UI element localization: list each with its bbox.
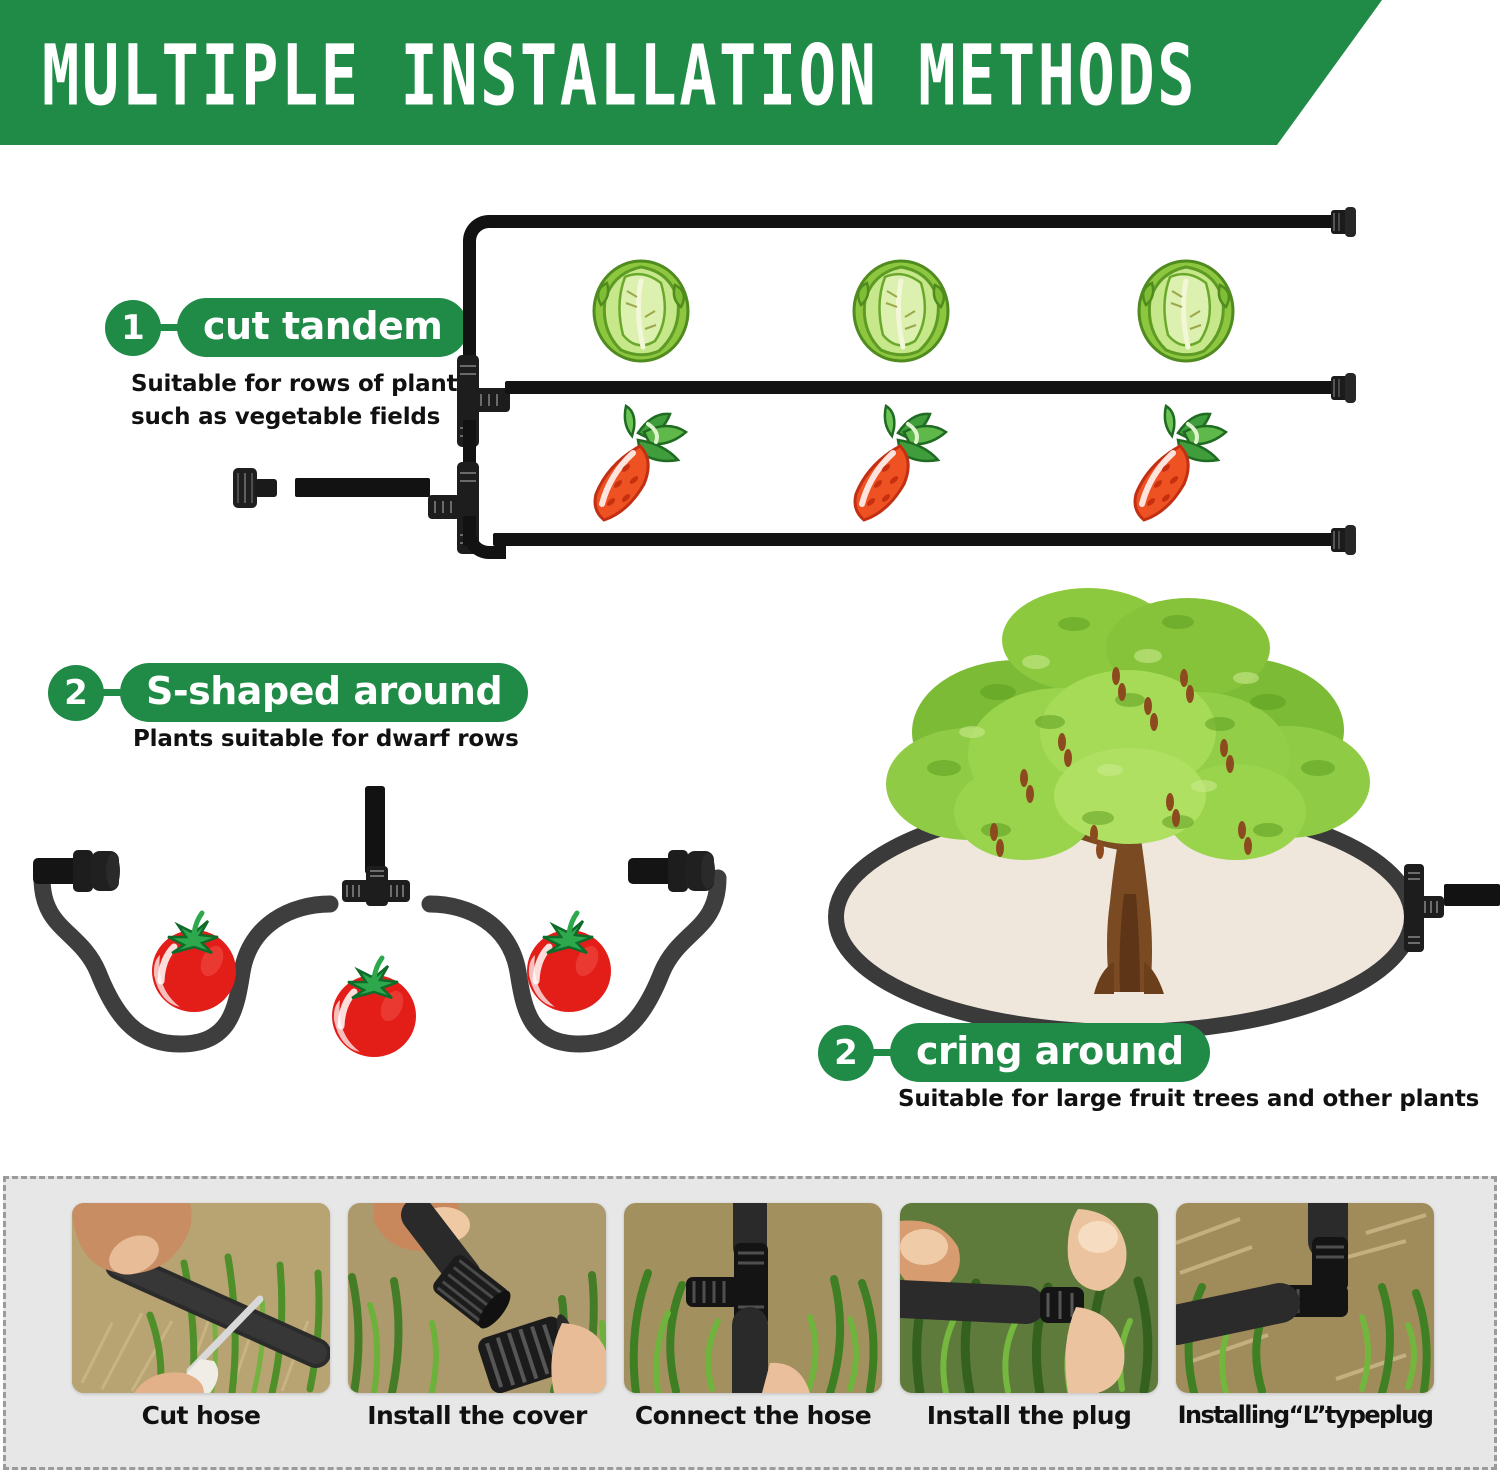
end-cap-right-s <box>628 848 718 892</box>
end-cap-row2 <box>1331 373 1357 403</box>
tomato-icon-2 <box>320 948 428 1063</box>
method-3-number: 2 <box>818 1025 874 1081</box>
method-2-subtitle: Plants suitable for dwarf rows <box>133 723 553 756</box>
cabbage-icon-2 <box>845 255 957 365</box>
tee-connector-ring <box>1392 864 1444 954</box>
tomato-icon-1 <box>140 903 248 1018</box>
tomato-icon-3 <box>515 903 623 1018</box>
step-photo-row <box>6 1203 1500 1393</box>
carrot-icon-3 <box>1118 398 1238 533</box>
method-3-subtitle: Suitable for large fruit trees and other… <box>898 1083 1498 1116</box>
carrot-icon-1 <box>578 398 698 533</box>
page-title: MULTIPLE INSTALLATION METHODS <box>42 26 1197 125</box>
step-photo-cut-hose[interactable] <box>72 1203 330 1393</box>
cabbage-icon-3 <box>1130 255 1242 365</box>
infographic-page: MULTIPLE INSTALLATION METHODS 1 cut tand… <box>0 0 1500 1473</box>
cabbage-icon-1 <box>585 255 697 365</box>
method-3-dash <box>872 1049 892 1056</box>
method-1-tag: 1 cut tandem <box>105 298 468 357</box>
method-1-dash <box>159 324 179 331</box>
fruit-tree <box>848 582 1408 1002</box>
installation-steps-panel: Cut hose Install the cover Connect the h… <box>3 1176 1497 1470</box>
step-caption-4: Install the plug <box>900 1401 1158 1447</box>
step-photo-connect-hose[interactable] <box>624 1203 882 1393</box>
header-banner: MULTIPLE INSTALLATION METHODS <box>0 0 1382 145</box>
pipe-row3-bottom <box>493 533 1333 546</box>
step-photo-install-plug[interactable] <box>900 1203 1158 1393</box>
step-caption-2: Install the cover <box>348 1401 606 1447</box>
pipe-ring-feed <box>1444 884 1500 906</box>
step-caption-3: Connect the hose <box>624 1401 882 1447</box>
end-cap-row3 <box>1331 525 1357 555</box>
method-2-title: S-shaped around <box>120 663 528 722</box>
faucet-adapter <box>233 468 279 508</box>
step-caption-5: Installing“L”typeplug <box>1176 1401 1434 1447</box>
method-1-number: 1 <box>105 300 161 356</box>
pipe-supply <box>295 478 430 497</box>
method-2-number: 2 <box>48 665 104 721</box>
method-3-tag: 2 cring around <box>818 1023 1210 1082</box>
pipe-row2-middle <box>505 381 1333 394</box>
end-cap-left-s <box>33 848 123 892</box>
carrot-icon-2 <box>838 398 958 533</box>
method-1-title: cut tandem <box>177 298 468 357</box>
step-photo-install-cover[interactable] <box>348 1203 606 1393</box>
method-3-title: cring around <box>890 1023 1210 1082</box>
step-caption-1: Cut hose <box>72 1401 330 1447</box>
end-cap-row1 <box>1331 207 1357 237</box>
pipe-row1-top <box>493 215 1333 228</box>
pipe-trunk-upper <box>463 245 476 363</box>
method-2-tag: 2 S-shaped around <box>48 663 528 722</box>
step-caption-row: Cut hose Install the cover Connect the h… <box>6 1401 1500 1447</box>
method-2-dash <box>102 689 122 696</box>
step-photo-l-type-plug[interactable] <box>1176 1203 1434 1393</box>
